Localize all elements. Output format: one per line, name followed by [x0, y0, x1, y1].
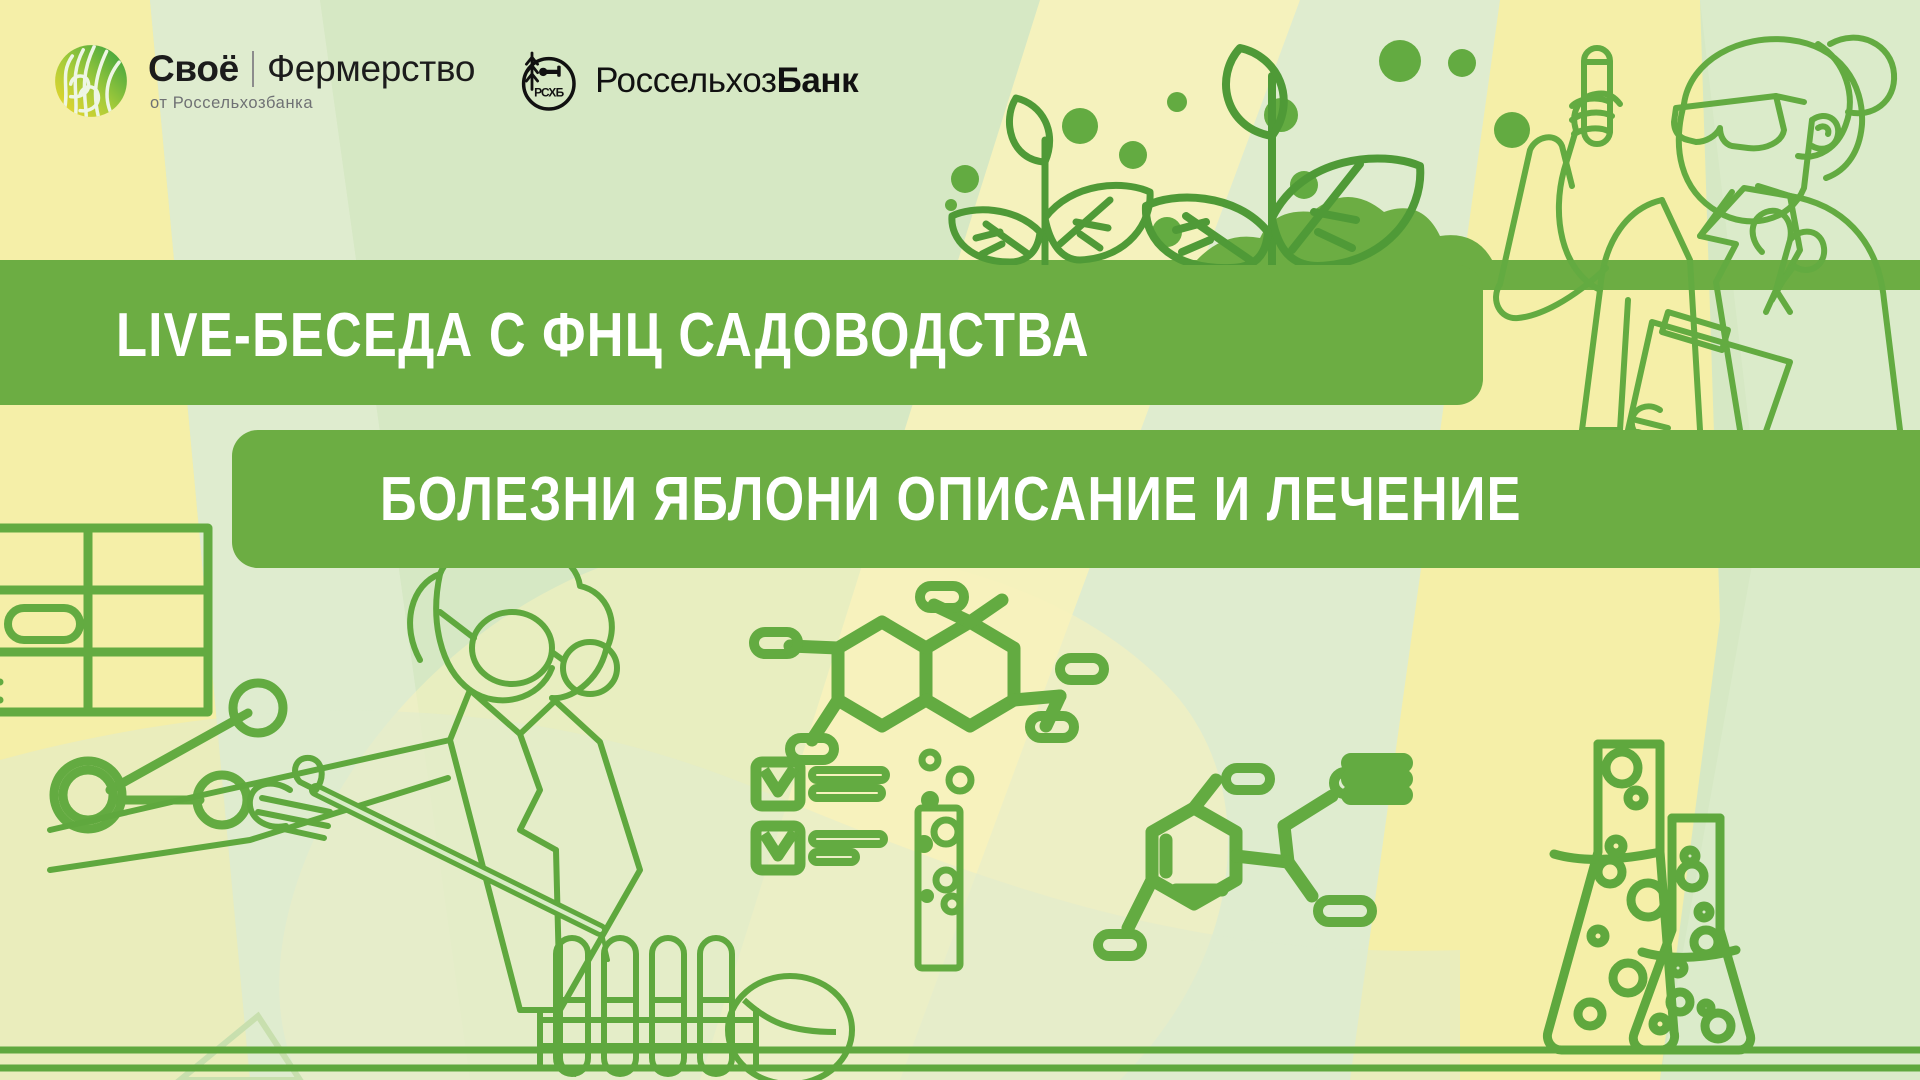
- rshb-wordmark-suffix: Банк: [777, 61, 859, 100]
- svoe-fermerstvo-logo[interactable]: Своё Фермерство от Россельхозбанка: [52, 42, 475, 120]
- svoe-wordmark: Своё: [148, 50, 239, 87]
- logo-bar: Своё Фермерство от Россельхозбанка: [52, 42, 858, 120]
- title-banner-bottom-text: БОЛЕЗНИ ЯБЛОНИ ОПИСАНИЕ И ЛЕЧЕНИЕ: [380, 464, 1522, 535]
- title-banner-top: LIVE-БЕСЕДА С ФНЦ САДОВОДСТВА: [0, 265, 1483, 405]
- rshb-wordmark-prefix: Россельхоз: [595, 61, 776, 100]
- svoe-subtitle: от Россельхозбанка: [150, 95, 475, 112]
- banner-canvas: Своё Фермерство от Россельхозбанка: [0, 0, 1920, 1080]
- title-banner-top-text: LIVE-БЕСЕДА С ФНЦ САДОВОДСТВА: [116, 300, 1090, 371]
- flask-large: [1547, 744, 1674, 1050]
- rshb-wheat-circle-mark: РСХБ: [511, 46, 581, 116]
- rosselkhozbank-logo[interactable]: РСХБ РоссельхозБанк: [511, 46, 858, 116]
- ground-lines: [0, 1050, 1920, 1068]
- logo-divider: [252, 51, 254, 87]
- title-banner-bottom: БОЛЕЗНИ ЯБЛОНИ ОПИСАНИЕ И ЛЕЧЕНИЕ: [232, 430, 1920, 568]
- svg-text:РСХБ: РСХБ: [534, 85, 565, 99]
- svoe-circle-gradient-mark: [52, 42, 130, 120]
- fermerstvo-wordmark: Фермерство: [267, 50, 475, 87]
- rshb-wordmark: РоссельхозБанк: [595, 61, 858, 101]
